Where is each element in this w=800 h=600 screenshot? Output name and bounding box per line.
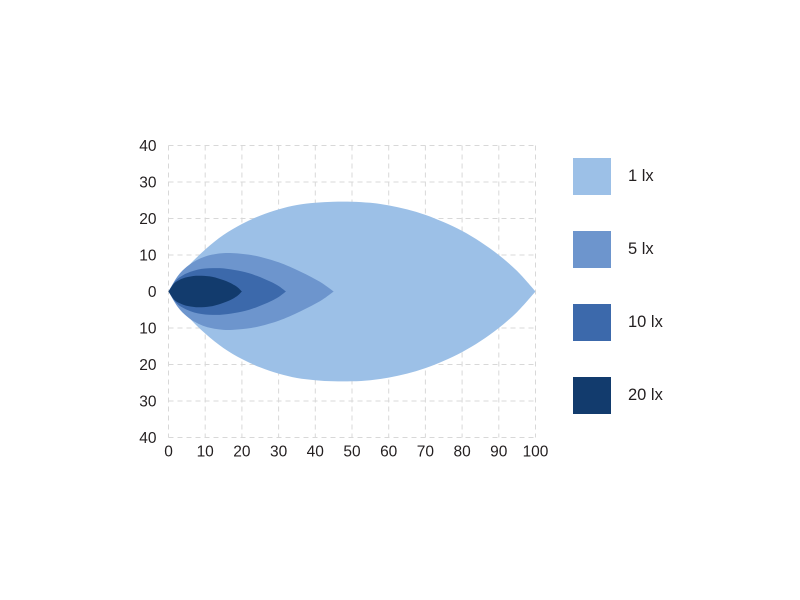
y-tick-label: 30 <box>139 394 157 411</box>
chart-legend: 1 lx5 lx10 lx20 lx <box>573 158 753 450</box>
x-tick-label: 80 <box>453 444 471 461</box>
y-tick-label: 40 <box>139 430 157 447</box>
legend-item-label: 10 lx <box>628 313 663 332</box>
legend-swatch-icon <box>573 231 611 268</box>
x-tick-label: 90 <box>490 444 508 461</box>
legend-item[interactable]: 1 lx <box>573 158 753 195</box>
x-tick-label: 10 <box>197 444 215 461</box>
x-tick-label: 70 <box>417 444 435 461</box>
light-distribution-chart-page: 0102030405060708090100 40302010010203040… <box>0 0 800 600</box>
legend-swatch-icon <box>573 377 611 414</box>
legend-item-label: 1 lx <box>628 167 654 186</box>
x-tick-label: 20 <box>233 444 251 461</box>
y-tick-label: 20 <box>139 357 157 374</box>
legend-item[interactable]: 20 lx <box>573 377 753 414</box>
legend-item[interactable]: 5 lx <box>573 231 753 268</box>
y-tick-label: 10 <box>139 248 157 265</box>
y-tick-label: 40 <box>139 138 157 155</box>
legend-item-label: 5 lx <box>628 240 654 259</box>
x-tick-label: 50 <box>343 444 361 461</box>
y-tick-label: 20 <box>139 211 157 228</box>
x-tick-label: 60 <box>380 444 398 461</box>
legend-swatch-icon <box>573 158 611 195</box>
x-tick-label: 40 <box>307 444 325 461</box>
y-tick-label: 10 <box>139 321 157 338</box>
legend-item[interactable]: 10 lx <box>573 304 753 341</box>
x-tick-label: 0 <box>164 444 173 461</box>
x-tick-label: 100 <box>523 444 549 461</box>
legend-swatch-icon <box>573 304 611 341</box>
legend-item-label: 20 lx <box>628 386 663 405</box>
x-tick-label: 30 <box>270 444 288 461</box>
y-tick-label: 30 <box>139 175 157 192</box>
y-tick-label: 0 <box>148 284 157 301</box>
